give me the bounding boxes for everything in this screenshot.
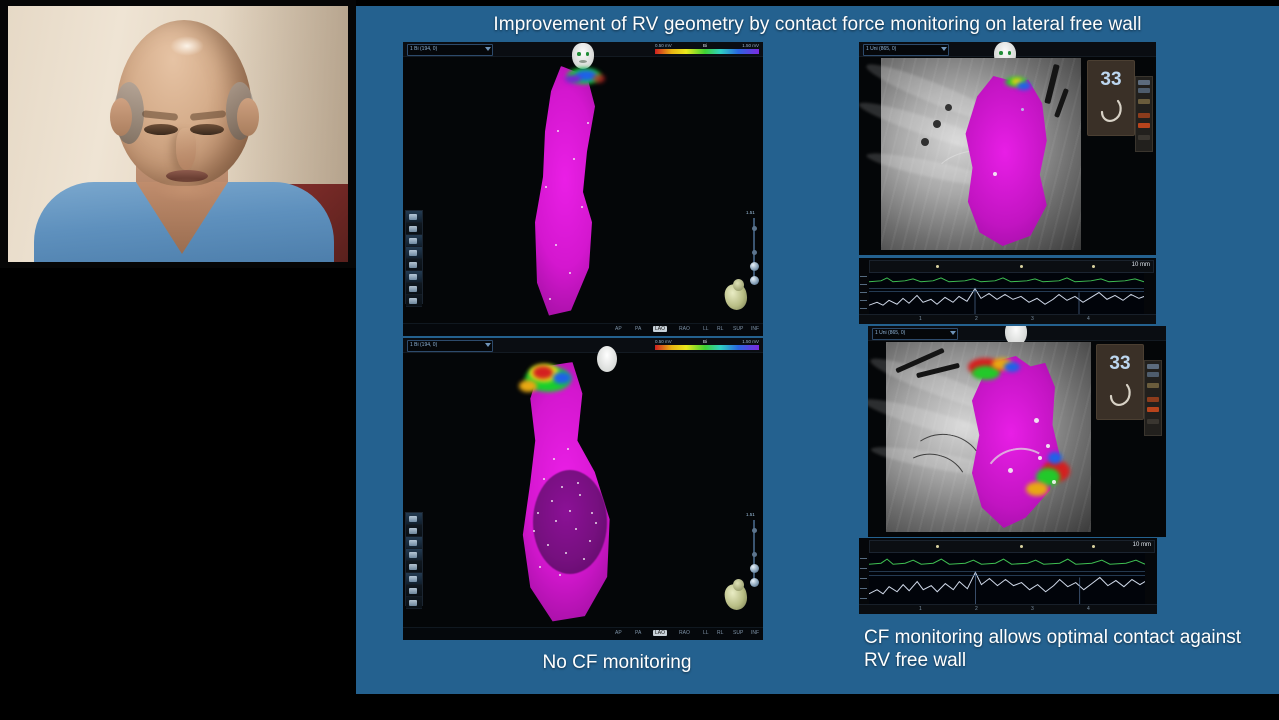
orientation-bar[interactable]: AP PA LAO RAO LL RL SUP INF [403, 627, 763, 640]
heart-orientation-icon [721, 278, 751, 312]
voltage-colorbar: 0.50 mV Bi 1.50 mV [655, 43, 759, 55]
screen-root: Improvement of RV geometry by contact fo… [0, 0, 1279, 720]
waveform-traces [869, 553, 1145, 604]
force-vector-strip [1135, 76, 1153, 152]
speaker-video-frame [0, 0, 356, 268]
colorbar-gradient [655, 345, 759, 350]
fluoroscopy-image[interactable] [886, 342, 1091, 532]
contact-force-gauge: 33 [1087, 60, 1135, 136]
eye-right [190, 124, 224, 135]
waveform-traces [869, 273, 1144, 314]
waveform-axis-left [859, 272, 869, 314]
tool-button[interactable] [406, 271, 422, 283]
eyebrow-left [142, 110, 179, 121]
eyebrow-right [190, 110, 227, 121]
tool-button[interactable] [406, 295, 422, 307]
eye-left [144, 124, 178, 135]
waveform-timeline: 1 2 3 4 [859, 314, 1156, 324]
presentation-slide: Improvement of RV geometry by contact fo… [356, 6, 1279, 694]
chevron-down-icon [941, 47, 947, 51]
tool-button[interactable] [406, 549, 422, 561]
rv-geometry-overlay [950, 356, 1072, 528]
ear-left [110, 98, 132, 136]
tool-button[interactable] [406, 235, 422, 247]
waveform-axis-left [859, 552, 869, 604]
caption-left: No CF monitoring [487, 651, 747, 674]
ear-right [237, 98, 259, 136]
map-selector-dropdown[interactable]: 1 Bi (194, 0) [407, 44, 493, 56]
page-title: Improvement of RV geometry by contact fo… [356, 14, 1279, 36]
fluoro-panel-top-right[interactable]: 1 Uni (865, 0) [859, 42, 1156, 255]
rv-geometry-overlay [947, 76, 1063, 246]
rv-geometry-3d[interactable] [503, 362, 627, 624]
tool-button[interactable] [406, 223, 422, 235]
scalp-highlight [170, 36, 204, 56]
tool-button[interactable] [406, 585, 422, 597]
force-arc-icon [1097, 97, 1125, 125]
waveform-panel-top[interactable]: 10 mm 1 2 3 4 [859, 258, 1156, 324]
carto-tool-palette[interactable] [405, 512, 423, 606]
chin [156, 178, 216, 202]
tool-button[interactable] [406, 259, 422, 271]
waveform-panel-bottom[interactable]: 10 mm 1 2 3 4 [859, 538, 1157, 614]
tool-button[interactable] [406, 247, 422, 259]
chevron-down-icon [485, 47, 491, 51]
map-selector-dropdown[interactable]: 1 Uni (865, 0) [872, 328, 958, 340]
chevron-down-icon [950, 331, 956, 335]
tool-button[interactable] [406, 283, 422, 295]
tool-button[interactable] [406, 211, 422, 223]
tool-button[interactable] [406, 573, 422, 585]
tool-button[interactable] [406, 525, 422, 537]
fluoro-panel-bottom-right[interactable]: 1 Uni (865, 0) [868, 326, 1166, 537]
force-arc-icon [1106, 381, 1134, 409]
orientation-bar[interactable]: AP PA LAO RAO LL RL SUP INF [403, 323, 763, 336]
fluoroscopy-image[interactable] [881, 58, 1081, 250]
heart-orientation-icon [721, 578, 751, 612]
chevron-down-icon [485, 343, 491, 347]
waveform-plot[interactable] [869, 272, 1144, 314]
tool-button[interactable] [406, 561, 422, 573]
carto-map-panel-bottom-left[interactable]: 1 Bi (194, 0) 0.50 mV Bi 1.50 mV [403, 338, 763, 640]
tool-button[interactable] [406, 513, 422, 525]
waveform-plot[interactable] [869, 552, 1145, 604]
tool-button[interactable] [406, 597, 422, 609]
map-selector-dropdown[interactable]: 1 Uni (865, 0) [863, 44, 949, 56]
caption-right: CF monitoring allows optimal contact aga… [864, 626, 1256, 672]
carto-map-panel-top-left[interactable]: 1 Bi (194, 0) 0.50 mV Bi 1.50 mV [403, 42, 763, 336]
map-selector-dropdown[interactable]: 1 Bi (194, 0) [407, 340, 493, 352]
colorbar-gradient [655, 49, 759, 54]
waveform-timeline: 1 2 3 4 [859, 604, 1157, 614]
contact-force-gauge: 33 [1096, 344, 1144, 420]
voltage-colorbar: 0.50 mV Bi 1.50 mV [655, 339, 759, 351]
force-vector-strip [1144, 360, 1162, 436]
tool-button[interactable] [406, 537, 422, 549]
carto-toolbar-bottom: 1 Bi (194, 0) 0.50 mV Bi 1.50 mV [403, 338, 763, 353]
rv-geometry-3d[interactable] [515, 66, 615, 318]
carto-tool-palette[interactable] [405, 210, 423, 304]
speaker-video [8, 6, 348, 262]
nose [176, 128, 196, 170]
